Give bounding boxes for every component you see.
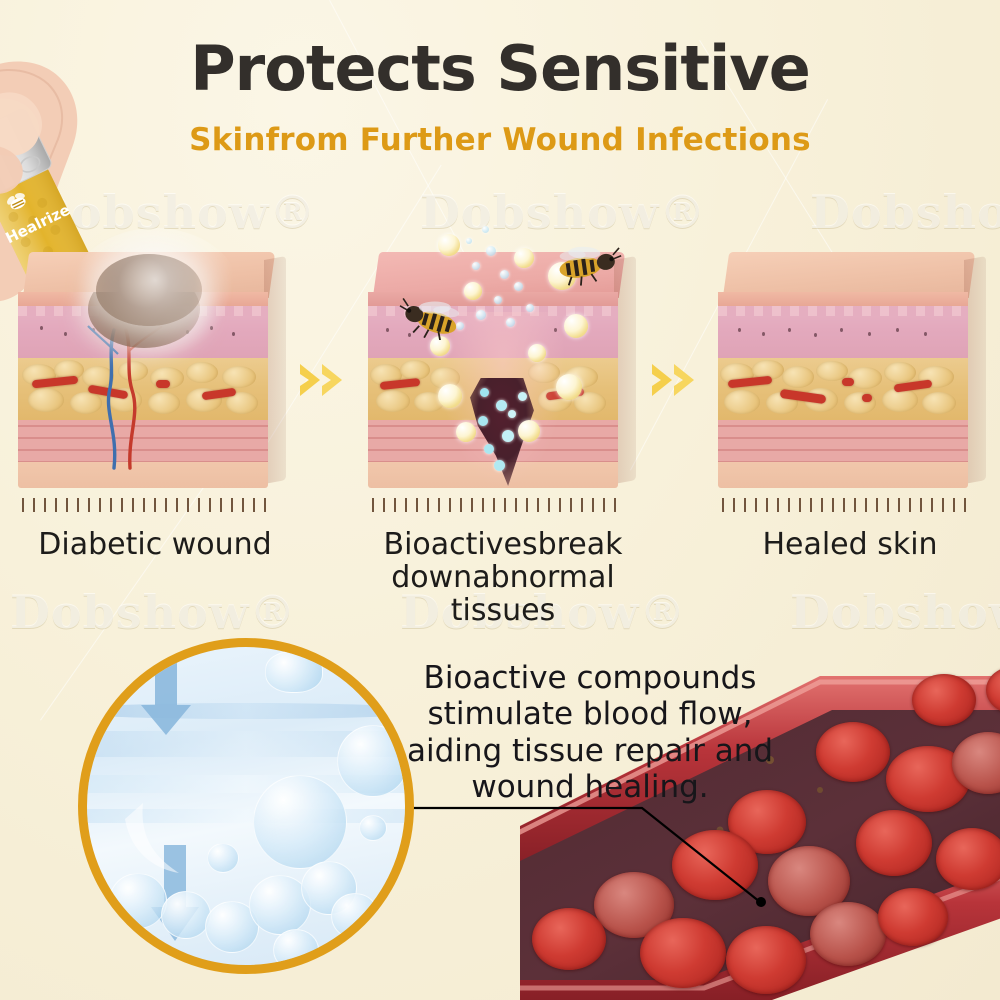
honeybee-icon [546,240,636,292]
pollen-sphere [564,314,588,338]
bioactive-bubble [500,270,509,279]
water-bubble [331,893,379,939]
bioactive-bubble [484,444,494,454]
layer-dermis [718,306,968,358]
bioactive-bubble [480,388,489,397]
pollen-sphere [514,248,534,268]
red-blood-cell [856,810,932,876]
bioactive-bubble [466,238,472,244]
callout-line: wound healing. [390,769,790,805]
watermark: Dobshow® [420,185,706,239]
bioactive-bubble [476,310,486,320]
water-bubble [337,725,409,797]
pollen-sphere [518,420,540,442]
skin-hair-follicles [18,498,268,512]
red-blood-cell [640,918,726,988]
bioactive-bubble [526,304,534,312]
caption-diabetic-wound: Diabetic wound [0,528,310,561]
red-blood-cell [912,674,976,726]
layer-hypodermis [718,462,968,488]
pollen-sphere [438,234,460,256]
skin-cross-section [718,292,968,488]
caption-healed-skin: Healed skin [705,528,995,561]
bioactive-bubble [508,410,516,418]
pollen-sphere [556,374,582,400]
skin-hair-follicles [368,498,618,512]
bioactive-bubble [514,282,523,291]
step-panel-diabetic-wound [18,252,286,510]
watermark: Dobshow® [810,185,1000,239]
bioactive-bubble [482,226,489,233]
caption-bioactives: Bioactivesbreak downabnormal tissues [358,528,648,627]
callout-line: aiding tissue repair and [390,733,790,769]
pollen-sphere [528,344,546,362]
bioactive-bubble [496,400,507,411]
callout-line: stimulate blood flow, [390,696,790,732]
poster-canvas: Protects Sensitive Skinfrom Further Woun… [0,0,1000,1000]
layer-fat [718,358,968,420]
layer-epidermis [718,292,968,306]
red-blood-cell [726,926,806,994]
double-chevron-right-icon [298,358,350,402]
bioactive-bubble [478,416,488,426]
double-chevron-right-icon [650,358,702,402]
spray-mist [70,228,240,358]
bioactive-bubble [494,460,505,471]
bioactive-bubble [502,430,514,442]
bioactive-bubble [472,262,480,270]
layer-muscle [718,420,968,462]
red-blood-cell [816,722,890,782]
water-bubble [273,929,319,971]
honeybee-icon [386,294,470,344]
red-blood-cell [672,830,758,900]
red-blood-cell [532,908,606,970]
bioactive-bubble [518,392,527,401]
bioactive-bubble [494,296,502,304]
water-bubble [253,775,347,869]
skin-hair-follicles [718,498,968,512]
step-panel-bioactives [368,252,636,510]
pollen-sphere [456,422,476,442]
callout-line: Bioactive compounds [390,660,790,696]
bioactive-bubble [486,246,496,256]
hydration-inset [78,638,414,974]
water-surface [78,703,414,719]
red-blood-cell [878,888,948,946]
blood-vessel [842,378,854,386]
callout-text: Bioactive compounds stimulate blood flow… [390,660,790,805]
bioactive-bubble [506,318,515,327]
water-bubble [265,651,323,693]
watermark: Dobshow® [10,585,296,639]
pollen-sphere [438,384,462,408]
water-stream [109,803,229,913]
red-blood-cell [936,828,1000,890]
step-panel-healed-skin [718,252,986,510]
watermark: Dobshow® [790,585,1000,639]
blood-vessel [862,394,872,402]
water-bubble [359,815,387,841]
red-blood-cell [810,902,886,966]
down-arrow-icon [139,661,193,741]
